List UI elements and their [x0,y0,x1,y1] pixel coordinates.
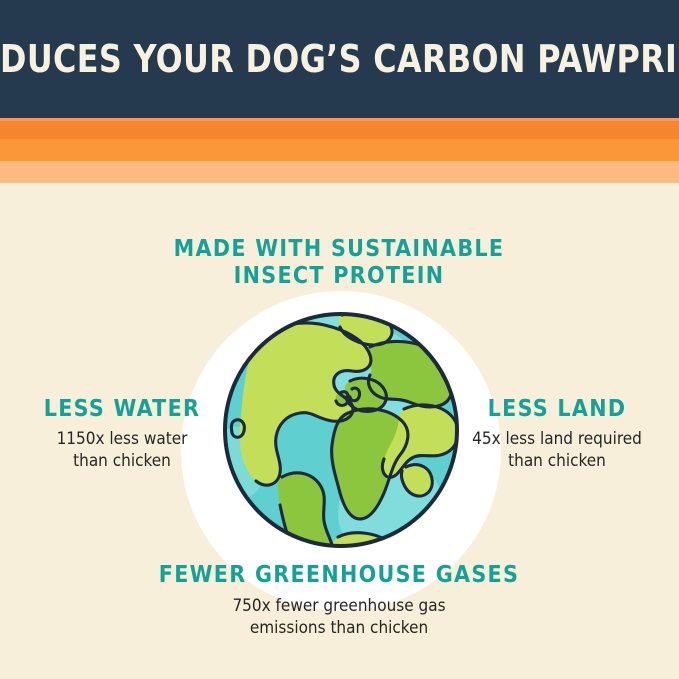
callout-left-heading: LESS WATER [8,396,236,423]
infographic-root: REDUCES YOUR DOG’S CARBON PAWPRINT [0,0,679,679]
callout-top: MADE WITH SUSTAINABLE INSECT PROTEIN [139,236,539,289]
page-title: REDUCES YOUR DOG’S CARBON PAWPRINT [0,40,679,78]
callout-right-subtext: 45x less land required than chicken [443,428,671,472]
callout-bottom-subtext: 750x fewer greenhouse gas emissions than… [139,595,539,639]
stripe-orange-pale [0,161,679,183]
callout-bottom-heading: FEWER GREENHOUSE GASES [139,562,539,589]
globe-icon [220,309,462,551]
callout-less-water: LESS WATER 1150x less water than chicken [8,396,236,472]
callout-left-subtext: 1150x less water than chicken [8,428,236,472]
callout-fewer-greenhouse-gases: FEWER GREENHOUSE GASES 750x fewer greenh… [139,562,539,639]
callout-top-heading: MADE WITH SUSTAINABLE INSECT PROTEIN [139,236,539,289]
callout-less-land: LESS LAND 45x less land required than ch… [443,396,671,472]
callout-right-heading: LESS LAND [443,396,671,423]
stripe-orange-bright [0,139,679,161]
stripe-orange-dark [0,121,679,139]
header-banner: REDUCES YOUR DOG’S CARBON PAWPRINT [0,0,679,118]
